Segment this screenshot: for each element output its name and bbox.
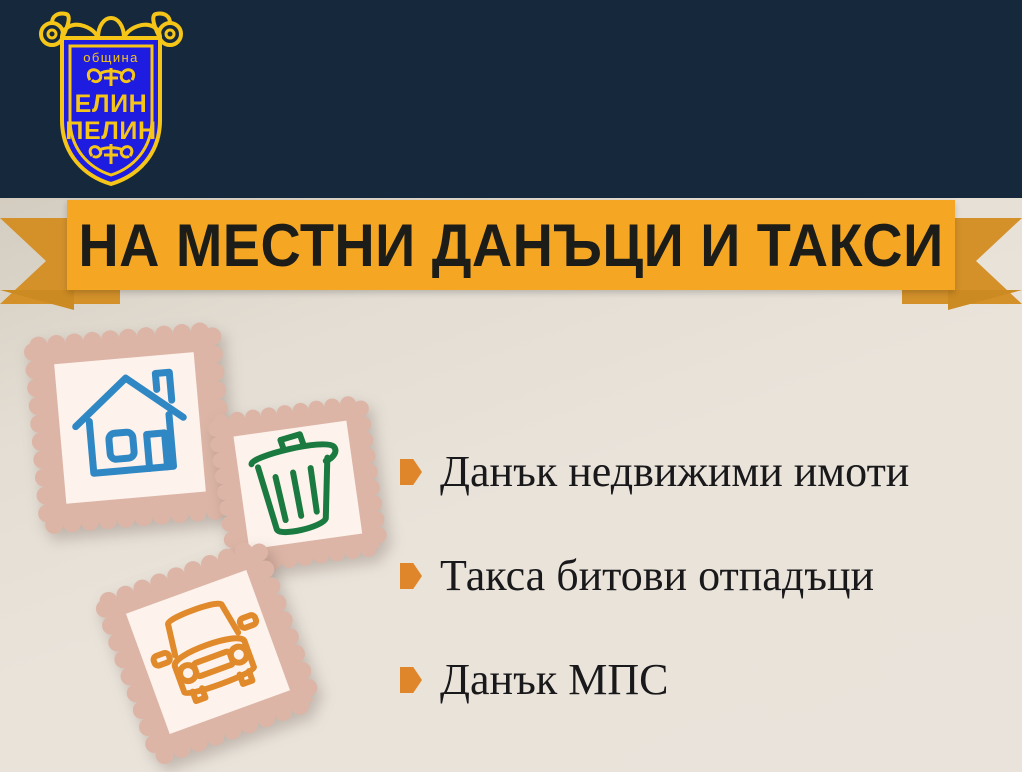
list-item[interactable]: Такса битови отпадъци bbox=[400, 524, 1010, 628]
poster-canvas: ПРОВЕРКА И ПЛАЩАНЕ НА ЗАДЪЛЖЕНИЯ община bbox=[0, 0, 1022, 772]
svg-text:ЕЛИН: ЕЛИН bbox=[75, 90, 148, 118]
ribbon-label: НА МЕСТНИ ДАНЪЦИ И ТАКСИ bbox=[98, 200, 924, 290]
arrow-bullet-icon bbox=[400, 563, 422, 589]
list-item[interactable]: Данък МПС bbox=[400, 628, 1010, 732]
stamp-card-vehicle-tax bbox=[88, 532, 328, 772]
tax-type-list: Данък недвижими имоти Такса битови отпад… bbox=[400, 420, 1010, 732]
svg-text:ПЕЛИН: ПЕЛИН bbox=[65, 117, 156, 145]
list-item[interactable]: Данък недвижими имоти bbox=[400, 420, 1010, 524]
arrow-bullet-icon bbox=[400, 667, 422, 693]
municipality-crest-logo: община ЕЛИН ПЕЛИН bbox=[38, 8, 184, 190]
list-item-label: Данък недвижими имоти bbox=[440, 447, 909, 497]
arrow-bullet-icon bbox=[400, 459, 422, 485]
list-item-label: Данък МПС bbox=[440, 655, 668, 705]
ribbon-banner: НА МЕСТНИ ДАНЪЦИ И ТАКСИ bbox=[0, 196, 1022, 311]
list-item-label: Такса битови отпадъци bbox=[440, 551, 874, 601]
svg-text:община: община bbox=[83, 50, 138, 65]
